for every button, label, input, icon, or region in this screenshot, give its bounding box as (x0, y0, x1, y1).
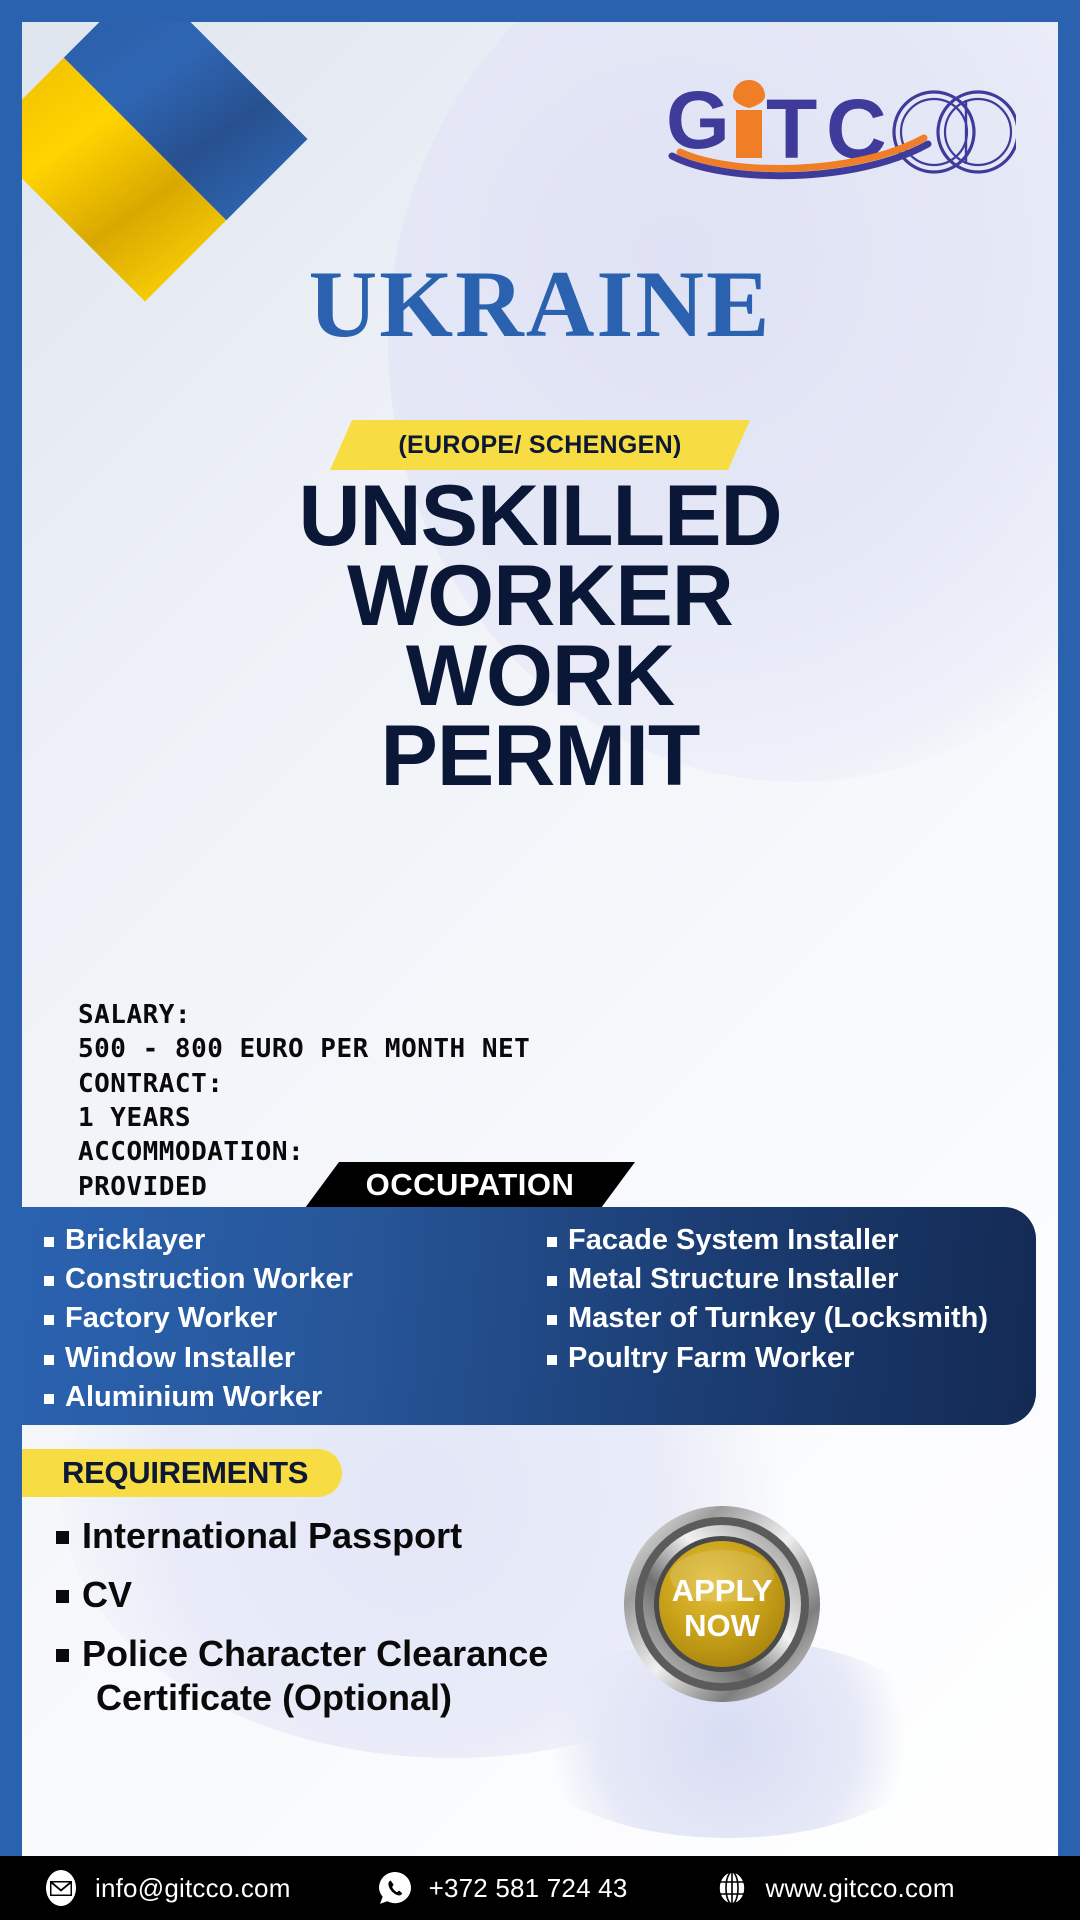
list-item: Facade System Installer (547, 1223, 1036, 1257)
headline-line-2: WORKER (22, 557, 1058, 637)
list-item: Police Character Clearance Certificate (… (56, 1632, 696, 1720)
logo-letter-g: G (666, 75, 730, 166)
bullet-square-icon (56, 1531, 69, 1544)
bullet-square-icon (547, 1355, 557, 1365)
phone-icon (376, 1869, 414, 1907)
list-item: CV (56, 1573, 696, 1617)
bullet-square-icon (44, 1315, 54, 1325)
page-title: UKRAINE (22, 257, 1058, 352)
headline-line-3: WORK (22, 637, 1058, 717)
website-text: www.gitcco.com (766, 1873, 955, 1904)
list-item: Aluminium Worker (44, 1380, 533, 1414)
list-item-label: CV (82, 1573, 132, 1617)
contact-website[interactable]: www.gitcco.com (713, 1869, 955, 1907)
list-item: Master of Turnkey (Locksmith) (547, 1301, 1036, 1335)
contact-email[interactable]: info@gitcco.com (42, 1869, 291, 1907)
list-item-label: Construction Worker (65, 1262, 353, 1296)
list-item: Metal Structure Installer (547, 1262, 1036, 1296)
list-item-label: Police Character Clearance Certificate (… (82, 1632, 548, 1720)
bullet-square-icon (56, 1590, 69, 1603)
apply-now-line1: APPLY (672, 1573, 773, 1608)
bullet-square-icon (44, 1237, 54, 1247)
bullet-square-icon (547, 1237, 557, 1247)
envelope-icon (42, 1869, 80, 1907)
contact-phone[interactable]: +372 581 724 43 (376, 1869, 628, 1907)
poster-card: G T C UKRAINE (EUROPE/ SCHENGEN) UNSKILL… (22, 22, 1058, 1898)
contact-footer: info@gitcco.com +372 581 724 43 www.gitc… (0, 1856, 1080, 1920)
region-banner: (EUROPE/ SCHENGEN) (330, 420, 750, 470)
poster-root: G T C UKRAINE (EUROPE/ SCHENGEN) UNSKILL… (0, 0, 1080, 1920)
list-item: Window Installer (44, 1341, 533, 1375)
globe-icon (713, 1869, 751, 1907)
list-item-label: Bricklayer (65, 1223, 205, 1257)
list-item-label: Facade System Installer (568, 1223, 898, 1257)
occupation-heading: OCCUPATION (305, 1162, 635, 1208)
headline-line-4: PERMIT (22, 717, 1058, 797)
apply-now-button[interactable]: APPLY NOW (622, 1504, 822, 1704)
list-item: Construction Worker (44, 1262, 533, 1296)
logo-letter-i-dot (733, 80, 765, 108)
headline: UNSKILLED WORKER WORK PERMIT (22, 477, 1058, 797)
requirements-heading: REQUIREMENTS (22, 1449, 342, 1497)
list-item: Factory Worker (44, 1301, 533, 1335)
list-item-label: International Passport (82, 1514, 462, 1558)
phone-text: +372 581 724 43 (429, 1873, 628, 1904)
list-item: International Passport (56, 1514, 696, 1558)
list-item: Poultry Farm Worker (547, 1341, 1036, 1375)
occupation-panel: Bricklayer Construction Worker Factory W… (22, 1207, 1036, 1425)
logo-letter-t: T (766, 82, 817, 176)
gitcco-logo: G T C (666, 70, 1016, 180)
bullet-square-icon (44, 1394, 54, 1404)
occupation-column-right: Facade System Installer Metal Structure … (533, 1223, 1036, 1425)
bullet-square-icon (44, 1355, 54, 1365)
list-item-label-line1: Police Character Clearance (82, 1633, 548, 1674)
bullet-square-icon (56, 1649, 69, 1662)
bullet-square-icon (547, 1315, 557, 1325)
bullet-square-icon (44, 1276, 54, 1286)
apply-now-line2: NOW (684, 1608, 761, 1643)
list-item: Bricklayer (44, 1223, 533, 1257)
occupation-column-left: Bricklayer Construction Worker Factory W… (22, 1223, 533, 1425)
list-item-label: Master of Turnkey (Locksmith) (568, 1301, 988, 1335)
list-item-label: Window Installer (65, 1341, 295, 1375)
list-item-label: Aluminium Worker (65, 1380, 322, 1414)
headline-line-1: UNSKILLED (22, 477, 1058, 557)
logo-letter-i-body (736, 110, 762, 158)
list-item-label: Metal Structure Installer (568, 1262, 898, 1296)
list-item-label: Poultry Farm Worker (568, 1341, 854, 1375)
email-text: info@gitcco.com (95, 1873, 291, 1904)
list-item-label-line2: Certificate (Optional) (82, 1676, 452, 1720)
list-item-label: Factory Worker (65, 1301, 277, 1335)
requirements-list: International Passport CV Police Charact… (56, 1514, 696, 1735)
bullet-square-icon (547, 1276, 557, 1286)
logo-outline-co (894, 92, 1016, 172)
